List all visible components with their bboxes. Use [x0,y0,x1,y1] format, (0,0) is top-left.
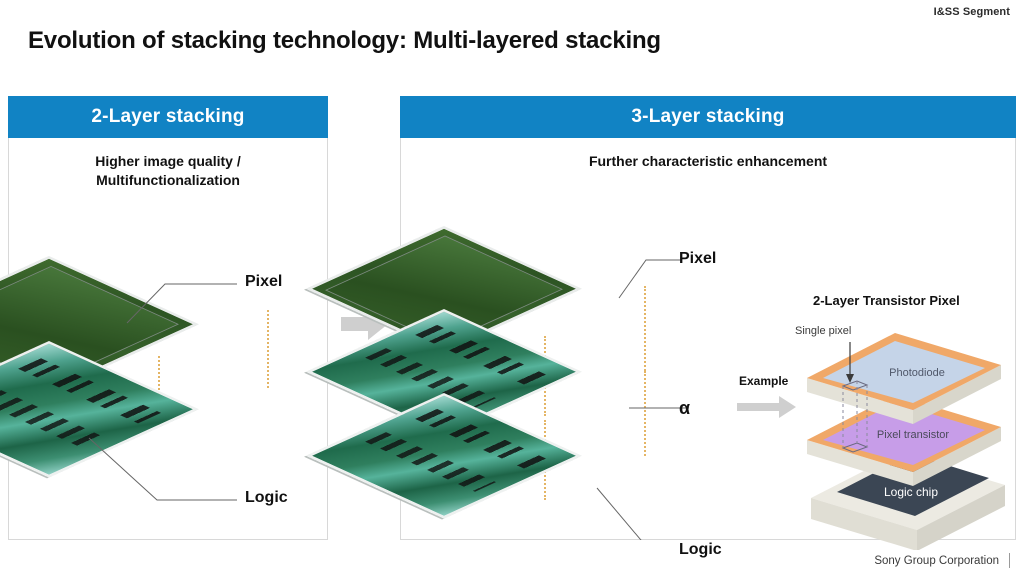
label-pixel-three-layer: Pixel [679,250,716,268]
logic-chip-layer-label: Logic chip [884,485,938,499]
single-pixel-callout-label: Single pixel [795,325,851,337]
label-logic-two-layer: Logic [245,489,288,507]
panel-three-layer-heading: 3-Layer stacking [400,96,1016,138]
panel-three-layer-subtitle: Further characteristic enhancement [401,152,1015,171]
label-pixel-two-layer: Pixel [245,273,282,291]
panel-three-layer-stacking: 3-Layer stacking Further characteristic … [400,96,1016,540]
label-logic-three-layer: Logic [679,541,722,559]
footer-divider [1009,553,1010,568]
example-arrow-icon [737,396,797,418]
detail-title: 2-Layer Transistor Pixel [813,293,960,308]
connector-right-upper-icon [644,286,646,371]
panel-two-layer-heading: 2-Layer stacking [8,96,328,138]
panel-two-layer-body: Higher image quality / Multifunctionaliz… [8,138,328,540]
die-logic-face [0,341,199,478]
chip-stack-two-layer [31,228,301,458]
footer-company: Sony Group Corporation [874,555,999,567]
exploded-transistor-pixel-diagram: Logic chip Pixel transistor Photodiode [793,320,1023,550]
die-logic [49,341,199,491]
example-label: Example [739,374,788,388]
footer: Sony Group Corporation [874,553,1010,568]
photodiode-layer-label: Photodiode [889,367,945,379]
connector-right-icon [267,310,269,388]
slide-root: I&SS Segment Evolution of stacking techn… [0,0,1024,576]
die-logic-3l [444,393,582,531]
panel-two-layer-subtitle: Higher image quality / Multifunctionaliz… [9,152,327,190]
panel-three-layer-body: Further characteristic enhancement [400,138,1016,540]
pixel-transistor-layer-label: Pixel transistor [877,429,949,441]
die-logic-3l-face [306,393,582,519]
connector-right-lower-icon [644,371,646,456]
page-title: Evolution of stacking technology: Multi-… [28,27,661,55]
segment-tag: I&SS Segment [934,6,1010,18]
label-alpha-three-layer: α [679,398,690,419]
chip-stack-three-layer [427,196,707,516]
panel-two-layer-stacking: 2-Layer stacking Higher image quality / … [8,96,328,540]
